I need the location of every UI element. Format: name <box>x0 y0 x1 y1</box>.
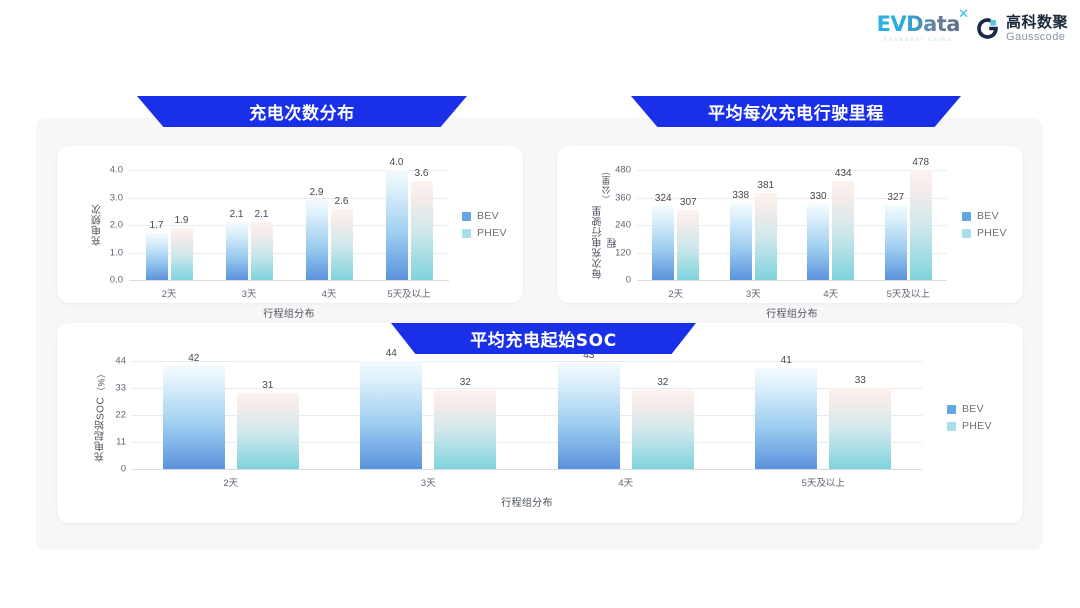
plot-area: 0.01.02.03.04.01.71.92天2.12.13天2.92.64天4… <box>129 170 449 280</box>
gausscode-text: 高科数聚 Gausscode <box>1006 15 1068 43</box>
legend-swatch-icon <box>947 405 956 414</box>
y-axis-label-line1: 充电起始SOC <box>94 397 109 462</box>
legend-label: BEV <box>977 210 999 222</box>
banner-freq-title: 充电次数分布 <box>249 99 355 124</box>
evdata-wordmark: EVData <box>877 14 960 35</box>
x-tick-label: 4天 <box>618 475 633 489</box>
bar-phev-1: 381 <box>755 193 777 280</box>
bar-bev-1: 2.1 <box>226 222 248 280</box>
bar-phev-0: 31 <box>237 393 299 469</box>
legend-label: PHEV <box>962 420 992 432</box>
chart-legend: BEVPHEV <box>962 210 1007 239</box>
bar-value-label: 31 <box>262 380 273 391</box>
legend-swatch-icon <box>462 212 471 221</box>
banner-start-soc: 平均充电起始SOC <box>391 323 696 354</box>
x-tick-label: 2天 <box>162 286 177 300</box>
y-tick-label: 33 <box>115 383 126 394</box>
bar-phev-2: 2.6 <box>331 209 353 281</box>
x-axis-line <box>129 280 449 281</box>
gausscode-mark-icon <box>976 17 999 40</box>
bar-bev-2: 43 <box>558 363 620 469</box>
y-axis-label-line2: （%） <box>95 368 108 396</box>
bar-value-label: 307 <box>680 197 697 208</box>
chart-legend: BEVPHEV <box>947 403 992 432</box>
bar-value-label: 478 <box>912 157 929 168</box>
y-tick-label: 120 <box>615 247 631 258</box>
y-tick-label: 480 <box>615 165 631 176</box>
bar-value-label: 1.7 <box>150 220 164 231</box>
bar-phev-2: 434 <box>832 181 854 280</box>
y-tick-label: 2.0 <box>110 220 123 231</box>
bar-bev-1: 338 <box>730 203 752 280</box>
x-axis-line <box>637 280 947 281</box>
y-axis-label-line2: （公里） <box>600 170 613 204</box>
y-axis-label-line1: 每次充电行驶里程 <box>591 205 621 280</box>
bar-value-label: 42 <box>188 353 199 364</box>
y-tick-label: 4.0 <box>110 165 123 176</box>
x-axis-label: 行程组分布 <box>129 305 449 320</box>
slide-root: EVData ✕ SHANGHAI CHINA 高科数聚 Gausscode 充… <box>0 0 1080 608</box>
bar-bev-2: 330 <box>807 204 829 280</box>
x-tick-label: 3天 <box>242 286 257 300</box>
y-tick-label: 44 <box>115 356 126 367</box>
y-tick-label: 240 <box>615 220 631 231</box>
banner-range-title: 平均每次充电行驶里程 <box>708 99 884 124</box>
bar-value-label: 4.0 <box>390 157 404 168</box>
bar-value-label: 434 <box>835 168 852 179</box>
bar-phev-0: 307 <box>677 210 699 280</box>
gausscode-logo: 高科数聚 Gausscode <box>976 15 1068 43</box>
brand-logo-bar: EVData ✕ SHANGHAI CHINA 高科数聚 Gausscode <box>877 14 1068 43</box>
legend-item-phev[interactable]: PHEV <box>962 227 1007 239</box>
y-tick-label: 0.0 <box>110 275 123 286</box>
plot-area: 01122334442312天44323天43324天41335天及以上 <box>132 361 922 469</box>
y-tick-label: 360 <box>615 192 631 203</box>
gridline <box>132 361 922 362</box>
bar-bev-1: 44 <box>360 361 422 469</box>
chart-freq: 充电频次0.01.02.03.04.01.71.92天2.12.13天2.92.… <box>57 146 523 303</box>
y-tick-label: 0 <box>121 464 126 475</box>
x-tick-label: 3天 <box>746 286 761 300</box>
bar-phev-1: 2.1 <box>251 222 273 280</box>
legend-swatch-icon <box>962 229 971 238</box>
legend-label: BEV <box>477 210 499 222</box>
y-axis-label: 充电频次 <box>83 170 113 280</box>
y-axis-label-line1: 充电频次 <box>91 204 106 246</box>
x-axis-label: 行程组分布 <box>132 494 922 509</box>
bar-value-label: 44 <box>386 348 397 359</box>
bar-phev-3: 3.6 <box>411 181 433 280</box>
legend-item-phev[interactable]: PHEV <box>947 420 992 432</box>
evdata-logo: EVData ✕ SHANGHAI CHINA <box>877 14 960 43</box>
bar-phev-2: 32 <box>632 390 694 469</box>
legend-label: BEV <box>962 403 984 415</box>
x-axis-line <box>132 469 922 470</box>
bar-value-label: 327 <box>887 192 904 203</box>
x-tick-label: 5天及以上 <box>802 475 845 489</box>
legend-swatch-icon <box>947 422 956 431</box>
bar-bev-0: 42 <box>163 366 225 469</box>
legend-item-bev[interactable]: BEV <box>947 403 992 415</box>
bar-bev-3: 327 <box>885 205 907 280</box>
bar-value-label: 330 <box>810 191 827 202</box>
bar-bev-2: 2.9 <box>306 200 328 280</box>
gausscode-name-cn: 高科数聚 <box>1006 15 1068 30</box>
bar-value-label: 41 <box>781 355 792 366</box>
x-axis-label: 行程组分布 <box>637 305 947 320</box>
x-tick-label: 5天及以上 <box>387 286 430 300</box>
gausscode-name-en: Gausscode <box>1006 32 1068 43</box>
evdata-tagline: SHANGHAI CHINA <box>884 38 953 43</box>
legend-swatch-icon <box>962 212 971 221</box>
bar-bev-0: 1.7 <box>146 233 168 280</box>
banner-soc-title: 平均充电起始SOC <box>470 326 617 351</box>
x-tick-label: 4天 <box>322 286 337 300</box>
legend-item-phev[interactable]: PHEV <box>462 227 507 239</box>
x-tick-label: 4天 <box>823 286 838 300</box>
x-tick-label: 3天 <box>421 475 436 489</box>
bar-value-label: 381 <box>757 180 774 191</box>
chart-range: 每次充电行驶里程（公里）01202403604803243072天3383813… <box>557 146 1023 303</box>
bar-value-label: 2.6 <box>335 196 349 207</box>
y-tick-label: 1.0 <box>110 247 123 258</box>
plot-area: 01202403604803243072天3383813天3304344天327… <box>637 170 947 280</box>
legend-item-bev[interactable]: BEV <box>962 210 1007 222</box>
y-tick-label: 0 <box>626 275 631 286</box>
bar-value-label: 33 <box>855 375 866 386</box>
y-tick-label: 3.0 <box>110 192 123 203</box>
bar-value-label: 2.1 <box>255 209 269 220</box>
x-tick-label: 2天 <box>668 286 683 300</box>
banner-charging-frequency: 充电次数分布 <box>137 96 467 127</box>
gridline <box>637 170 947 171</box>
y-axis-label: 充电起始SOC（%） <box>86 361 116 469</box>
legend-swatch-icon <box>462 229 471 238</box>
evdata-cross-icon: ✕ <box>958 7 969 20</box>
bar-phev-0: 1.9 <box>171 228 193 280</box>
bar-phev-1: 32 <box>434 390 496 469</box>
bar-value-label: 32 <box>460 377 471 388</box>
y-tick-label: 22 <box>115 410 126 421</box>
bar-value-label: 338 <box>732 190 749 201</box>
bar-bev-0: 324 <box>652 206 674 280</box>
banner-range-per-charge: 平均每次充电行驶里程 <box>631 96 961 127</box>
x-tick-label: 5天及以上 <box>887 286 930 300</box>
bar-bev-3: 41 <box>755 368 817 469</box>
bar-phev-3: 33 <box>829 388 891 469</box>
bar-value-label: 2.1 <box>230 209 244 220</box>
bar-bev-3: 4.0 <box>386 170 408 280</box>
legend-label: PHEV <box>477 227 507 239</box>
x-tick-label: 2天 <box>223 475 238 489</box>
legend-item-bev[interactable]: BEV <box>462 210 507 222</box>
bar-value-label: 3.6 <box>415 168 429 179</box>
bar-value-label: 32 <box>657 377 668 388</box>
bar-phev-3: 478 <box>910 170 932 280</box>
y-tick-label: 11 <box>116 437 126 448</box>
chart-legend: BEVPHEV <box>462 210 507 239</box>
bar-value-label: 324 <box>655 193 672 204</box>
bar-value-label: 1.9 <box>175 215 189 226</box>
bar-value-label: 2.9 <box>310 187 324 198</box>
legend-label: PHEV <box>977 227 1007 239</box>
